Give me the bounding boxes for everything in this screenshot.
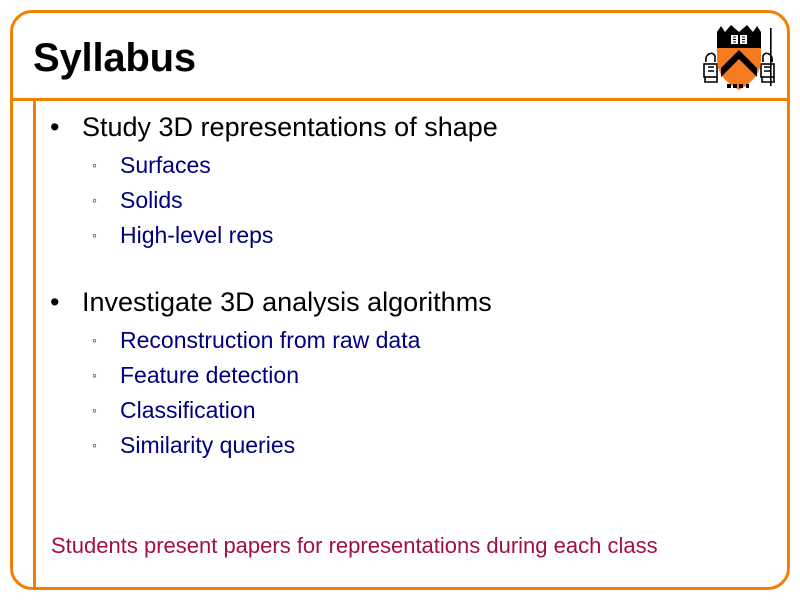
bullet-group-2: • Investigate 3D analysis algorithms ◦ R… [44,283,744,463]
page-title: Syllabus [33,36,633,80]
bullet-dot-icon: • [50,108,59,146]
sub-bullet-item-similarity-queries: ◦ Similarity queries [44,428,744,463]
sub-bullet-item-label: High-level reps [120,222,273,248]
sub-bullet-circle-icon: ◦ [92,358,97,393]
sub-bullet-circle-icon: ◦ [92,148,97,183]
princeton-shield-logo [700,20,778,98]
sub-bullet-circle-icon: ◦ [92,393,97,428]
sub-bullet-circle-icon: ◦ [92,218,97,253]
sub-bullet-item-label: Similarity queries [120,432,295,458]
bullet-item-label: Study 3D representations of shape [82,112,498,142]
level1-list-2: • Investigate 3D analysis algorithms [44,283,744,321]
bullet-dot-icon: • [50,283,59,321]
title-divider-rule [13,98,787,101]
body-vertical-rule [33,100,36,588]
level2-list-1: ◦ Surfaces ◦ Solids ◦ High-level reps [44,148,744,253]
sub-bullet-item-high-level-reps: ◦ High-level reps [44,218,744,253]
sub-bullet-item-reconstruction-from-raw-data: ◦ Reconstruction from raw data [44,323,744,358]
sub-bullet-item-surfaces: ◦ Surfaces [44,148,744,183]
sub-bullet-item-label: Reconstruction from raw data [120,327,420,353]
sub-bullet-circle-icon: ◦ [92,428,97,463]
bullet-group-1: • Study 3D representations of shape ◦ Su… [44,108,744,253]
bullet-content: • Study 3D representations of shape ◦ Su… [44,108,744,463]
level2-list-2: ◦ Reconstruction from raw data ◦ Feature… [44,323,744,463]
sub-bullet-item-label: Feature detection [120,362,299,388]
footer-note: Students present papers for representati… [51,532,781,560]
sub-bullet-item-solids: ◦ Solids [44,183,744,218]
sub-bullet-item-label: Classification [120,397,256,423]
sub-bullet-circle-icon: ◦ [92,183,97,218]
sub-bullet-circle-icon: ◦ [92,323,97,358]
bullet-item-investigate-3d-analysis: • Investigate 3D analysis algorithms [44,283,744,321]
bullet-item-label: Investigate 3D analysis algorithms [82,287,492,317]
sub-bullet-item-feature-detection: ◦ Feature detection [44,358,744,393]
sub-bullet-item-classification: ◦ Classification [44,393,744,428]
sub-bullet-item-label: Solids [120,187,183,213]
level1-list-1: • Study 3D representations of shape [44,108,744,146]
slide: Syllabus [0,0,800,600]
sub-bullet-item-label: Surfaces [120,152,211,178]
bullet-item-study-3d-representations: • Study 3D representations of shape [44,108,744,146]
title-area: Syllabus [33,36,633,96]
